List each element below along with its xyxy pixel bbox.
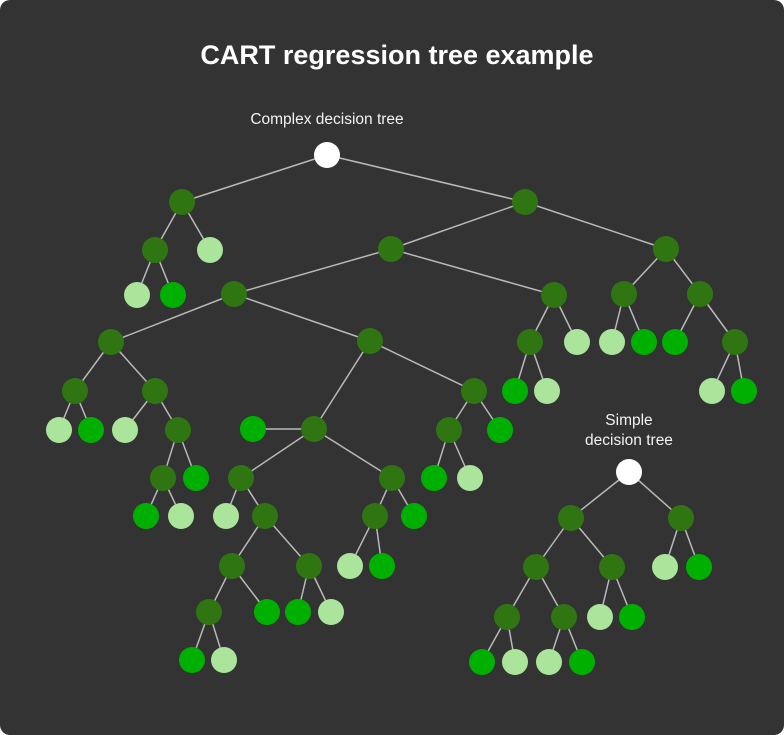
tree-node[interactable] (221, 281, 247, 307)
tree-node[interactable] (569, 649, 595, 675)
tree-node[interactable] (436, 417, 462, 443)
tree-node[interactable] (142, 378, 168, 404)
tree-node[interactable] (150, 465, 176, 491)
tree-edge (525, 202, 666, 249)
tree-node[interactable] (599, 329, 625, 355)
tree-node[interactable] (502, 649, 528, 675)
tree-node[interactable] (142, 237, 168, 263)
tree-node[interactable] (536, 649, 562, 675)
tree-edge (370, 341, 474, 391)
tree-node[interactable] (197, 237, 223, 263)
tree-node[interactable] (699, 378, 725, 404)
tree-node[interactable] (219, 553, 245, 579)
tree-node[interactable] (133, 503, 159, 529)
tree-node[interactable] (357, 328, 383, 354)
figure-panel: CART regression tree example Complex dec… (0, 0, 784, 735)
tree-node[interactable] (160, 282, 186, 308)
tree-edge (234, 294, 370, 341)
tree-node[interactable] (211, 647, 237, 673)
tree-node[interactable] (213, 503, 239, 529)
tree-node[interactable] (228, 465, 254, 491)
tree-node[interactable] (662, 329, 688, 355)
tree-node[interactable] (512, 189, 538, 215)
tree-edges-layer (59, 155, 744, 662)
tree-edge (391, 249, 554, 295)
tree-node[interactable] (183, 465, 209, 491)
tree-node[interactable] (494, 604, 520, 630)
tree-edge (314, 341, 370, 429)
tree-root-node[interactable] (616, 459, 642, 485)
tree-node[interactable] (517, 329, 543, 355)
tree-node[interactable] (457, 465, 483, 491)
tree-labels-layer: Complex decision treeSimpledecision tree (250, 111, 673, 449)
tree-node[interactable] (541, 282, 567, 308)
tree-node[interactable] (296, 553, 322, 579)
tree-nodes-layer (46, 142, 757, 675)
tree-node[interactable] (362, 503, 388, 529)
tree-node[interactable] (98, 329, 124, 355)
tree-node[interactable] (165, 417, 191, 443)
tree-node[interactable] (564, 329, 590, 355)
tree-node[interactable] (337, 553, 363, 579)
tree-node[interactable] (668, 505, 694, 531)
tree-node[interactable] (124, 282, 150, 308)
tree-node[interactable] (731, 378, 757, 404)
tree-edge (391, 202, 525, 249)
tree-node[interactable] (534, 378, 560, 404)
tree-node[interactable] (686, 554, 712, 580)
tree-node[interactable] (631, 329, 657, 355)
tree-node[interactable] (551, 604, 577, 630)
tree-node[interactable] (285, 599, 311, 625)
tree-node[interactable] (254, 599, 280, 625)
tree-node[interactable] (169, 189, 195, 215)
tree-node[interactable] (168, 503, 194, 529)
tree-node[interactable] (301, 416, 327, 442)
complex-tree-label: Complex decision tree (250, 111, 403, 128)
tree-node[interactable] (722, 329, 748, 355)
tree-edge (314, 429, 392, 478)
tree-node[interactable] (379, 465, 405, 491)
tree-node[interactable] (252, 503, 278, 529)
tree-edge (234, 249, 391, 294)
simple-tree-label: Simpledecision tree (585, 412, 673, 449)
page-title: CART regression tree example (200, 40, 593, 70)
tree-node[interactable] (378, 236, 404, 262)
tree-node[interactable] (62, 378, 88, 404)
tree-node[interactable] (502, 378, 528, 404)
tree-node[interactable] (461, 378, 487, 404)
tree-node[interactable] (318, 599, 344, 625)
tree-node[interactable] (558, 505, 584, 531)
tree-node[interactable] (421, 465, 447, 491)
tree-node[interactable] (46, 417, 72, 443)
tree-node[interactable] (196, 599, 222, 625)
tree-root-node[interactable] (314, 142, 340, 168)
tree-node[interactable] (179, 647, 205, 673)
tree-node[interactable] (687, 281, 713, 307)
tree-edge (182, 155, 327, 202)
tree-node[interactable] (587, 604, 613, 630)
tree-node[interactable] (112, 417, 138, 443)
tree-node[interactable] (653, 236, 679, 262)
tree-node[interactable] (487, 417, 513, 443)
tree-node[interactable] (652, 554, 678, 580)
tree-edge (327, 155, 525, 202)
tree-node[interactable] (78, 417, 104, 443)
tree-node[interactable] (523, 554, 549, 580)
tree-node[interactable] (469, 649, 495, 675)
tree-node[interactable] (401, 503, 427, 529)
decision-tree-figure: CART regression tree example Complex dec… (0, 0, 784, 735)
tree-node[interactable] (369, 553, 395, 579)
tree-node[interactable] (619, 604, 645, 630)
tree-node[interactable] (240, 416, 266, 442)
tree-node[interactable] (611, 281, 637, 307)
tree-node[interactable] (599, 554, 625, 580)
